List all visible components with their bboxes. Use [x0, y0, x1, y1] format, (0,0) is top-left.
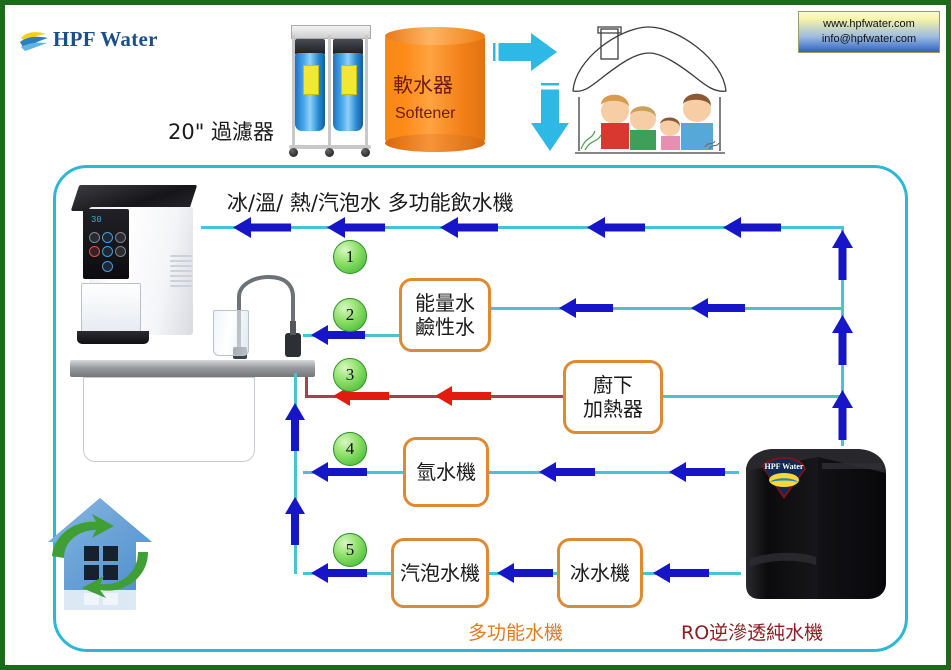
page-title: 冰/溫/ 熱/汽泡水 多功能飲水機	[227, 187, 514, 217]
dispenser-button-3[interactable]	[115, 232, 126, 243]
flow-arrow-up	[832, 315, 853, 365]
flow-arrow-left	[440, 217, 498, 238]
flow-arrow-left	[653, 563, 709, 583]
dispenser-button-5[interactable]	[102, 246, 113, 257]
pipe-row2-in	[491, 307, 843, 310]
svg-text:HPF Water: HPF Water	[765, 462, 804, 471]
flow-arrow-left-red	[435, 386, 491, 406]
twenty-inch-filter-unit	[287, 17, 373, 157]
box-heater-line2: 加熱器	[583, 397, 643, 421]
dispenser-display: 30	[91, 215, 102, 225]
flow-arrow-left	[691, 298, 745, 318]
box-energy-water-line2: 鹼性水	[415, 315, 475, 339]
label-multifunction-machine: 多功能水機	[468, 618, 563, 645]
dispenser-button-2[interactable]	[102, 232, 113, 243]
softener-label-en: Softener	[395, 105, 455, 123]
diagram-canvas: HPF Water www.hpfwater.com info@hpfwater…	[0, 0, 951, 670]
box-energy-water-line1: 能量水	[415, 291, 475, 315]
brand-logo: HPF Water	[19, 27, 158, 52]
label-ro-machine: RO逆滲透純水機	[681, 618, 823, 645]
flow-arrow-left	[587, 217, 645, 238]
filter-label: 20" 過濾器	[168, 116, 274, 146]
box-ice-water[interactable]: 冰水機	[557, 538, 643, 608]
ro-purifier-machine: HPF Water	[740, 433, 898, 611]
box-hydrogen-water[interactable]: 氫水機	[403, 437, 489, 507]
pipe-row3-in	[663, 395, 843, 398]
box-sparkling-water[interactable]: 汽泡水機	[391, 538, 489, 608]
water-glass-icon	[213, 310, 249, 356]
box-ice-line1: 冰水機	[570, 561, 630, 585]
contact-box: www.hpfwater.com info@hpfwater.com	[798, 11, 940, 53]
stage-badge-4: 4	[333, 432, 367, 466]
stage-badge-5: 5	[333, 533, 367, 567]
flow-arrow-left	[669, 462, 725, 482]
box-hydrogen-line1: 氫水機	[416, 460, 476, 484]
family-icon	[601, 94, 713, 150]
under-sink-cabinet	[83, 377, 255, 462]
softener-tank: 軟水器 Softener	[385, 27, 485, 151]
box-energy-water[interactable]: 能量水 鹼性水	[399, 278, 491, 352]
brand-name: HPF Water	[53, 27, 158, 52]
softener-label-cn: 軟水器	[393, 69, 453, 98]
flow-arrow-left	[233, 217, 291, 238]
recycle-house-icon	[30, 490, 170, 615]
stage-badge-3: 3	[333, 358, 367, 392]
dispenser-button-6[interactable]	[115, 246, 126, 257]
flow-arrow-up	[285, 497, 305, 545]
flow-arrow-left	[539, 462, 595, 482]
house-outline-icon	[565, 19, 735, 159]
flow-arrow-up	[285, 403, 305, 451]
stage-badge-1: 1	[333, 240, 367, 274]
flow-arrow-left	[723, 217, 781, 238]
stage-badge-2: 2	[333, 298, 367, 332]
countertop	[70, 360, 315, 377]
box-heater-line1: 廚下	[593, 373, 633, 397]
flow-arrow-left	[327, 217, 385, 238]
drip-tray	[77, 331, 149, 344]
flow-arrow-left	[497, 563, 553, 583]
dispenser-button-4[interactable]	[89, 246, 100, 257]
multifunction-water-dispenser: 30	[75, 185, 200, 360]
website-text[interactable]: www.hpfwater.com	[823, 17, 915, 32]
flow-arrow-up	[832, 230, 853, 280]
flow-arrow-left	[559, 298, 613, 318]
box-under-sink-heater[interactable]: 廚下 加熱器	[563, 360, 663, 434]
pipe-row3-red-riser	[305, 377, 308, 397]
dispenser-button-1[interactable]	[89, 232, 100, 243]
arrow-right-icon	[493, 29, 561, 75]
flow-arrow-up	[832, 390, 853, 440]
email-text[interactable]: info@hpfwater.com	[822, 32, 916, 47]
water-wave-icon	[19, 29, 49, 51]
dispenser-button-7[interactable]	[102, 261, 113, 272]
flow-arrow-left	[311, 563, 367, 583]
dispense-chamber	[81, 283, 141, 335]
flow-arrow-left	[311, 462, 367, 482]
box-sparkling-line1: 汽泡水機	[400, 561, 480, 585]
